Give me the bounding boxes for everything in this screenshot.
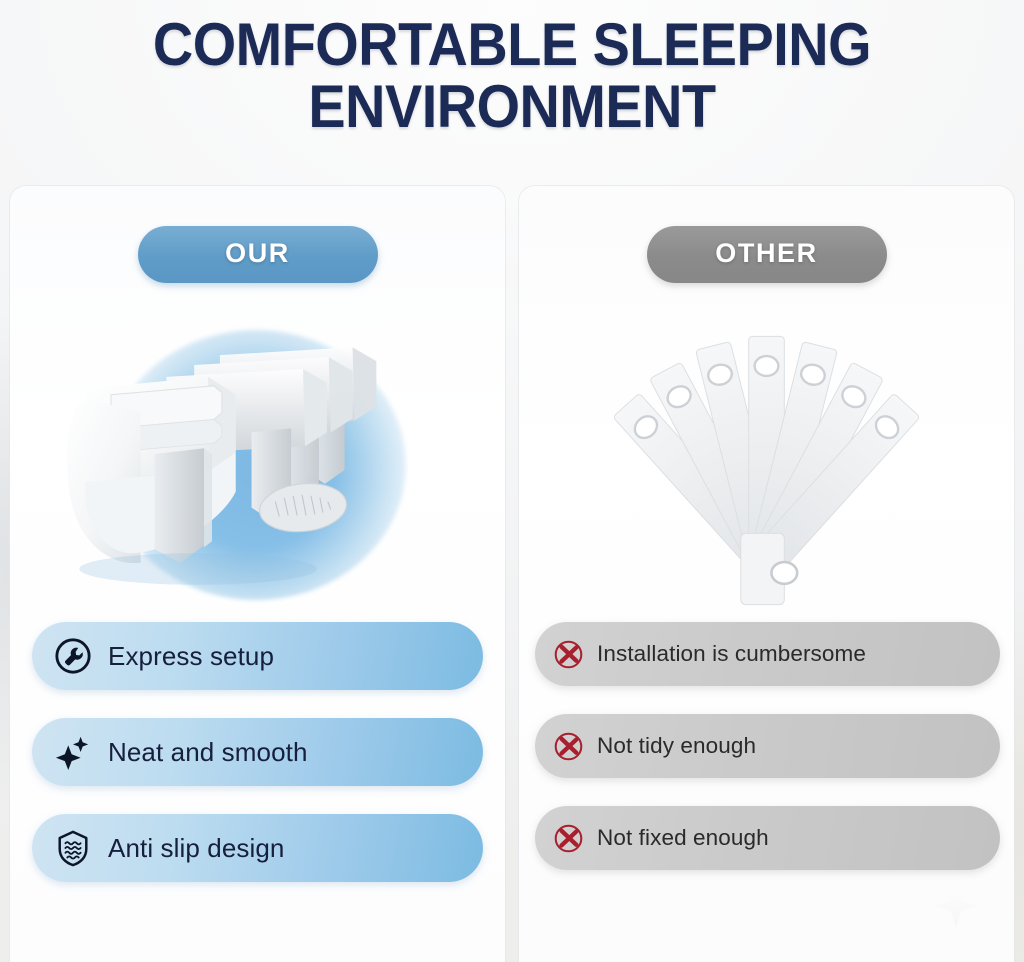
badge-other: OTHER (647, 226, 887, 283)
page-title: COMFORTABLE SLEEPING ENVIRONMENT (36, 14, 988, 138)
product-image-other (519, 302, 1014, 632)
cross-circle-icon (553, 823, 584, 854)
badge-row-other: OTHER (519, 226, 1014, 283)
badge-our: OUR (138, 226, 378, 283)
drawback-pill-installation-is-cumbersome[interactable]: Installation is cumbersome (535, 622, 1000, 686)
sparkles-icon (54, 733, 92, 771)
bed-sheet-clips-illustration (10, 302, 505, 632)
feature-pill-anti-slip-design[interactable]: Anti slip design (32, 814, 483, 882)
feature-label: Anti slip design (108, 833, 284, 864)
diamond-sparkle-watermark (934, 884, 978, 928)
drawback-label: Not tidy enough (597, 733, 756, 759)
cross-circle-icon (553, 639, 584, 670)
feature-label: Express setup (108, 641, 274, 672)
shield-waves-icon (54, 829, 92, 867)
panel-other: OTHER (519, 186, 1014, 962)
fabric-straps-illustration (519, 302, 1014, 632)
infographic-page: COMFORTABLE SLEEPING ENVIRONMENT OUR (0, 0, 1024, 962)
drawback-pill-not-fixed-enough[interactable]: Not fixed enough (535, 806, 1000, 870)
feature-pill-express-setup[interactable]: Express setup (32, 622, 483, 690)
panel-our: OUR (10, 186, 505, 962)
feature-pill-neat-and-smooth[interactable]: Neat and smooth (32, 718, 483, 786)
wrench-circle-icon (54, 637, 92, 675)
badge-row-our: OUR (10, 226, 505, 283)
cross-circle-icon (553, 731, 584, 762)
drawback-label: Not fixed enough (597, 825, 769, 851)
feature-label: Neat and smooth (108, 737, 308, 768)
drawback-label: Installation is cumbersome (597, 641, 866, 667)
comparison-panels: OUR (10, 186, 1014, 962)
product-image-our (10, 302, 505, 632)
drawback-pill-not-tidy-enough[interactable]: Not tidy enough (535, 714, 1000, 778)
feature-list-other: Installation is cumbersome Not tidy enou… (519, 622, 1014, 870)
feature-list-our: Express setup Neat and smooth (10, 622, 505, 882)
